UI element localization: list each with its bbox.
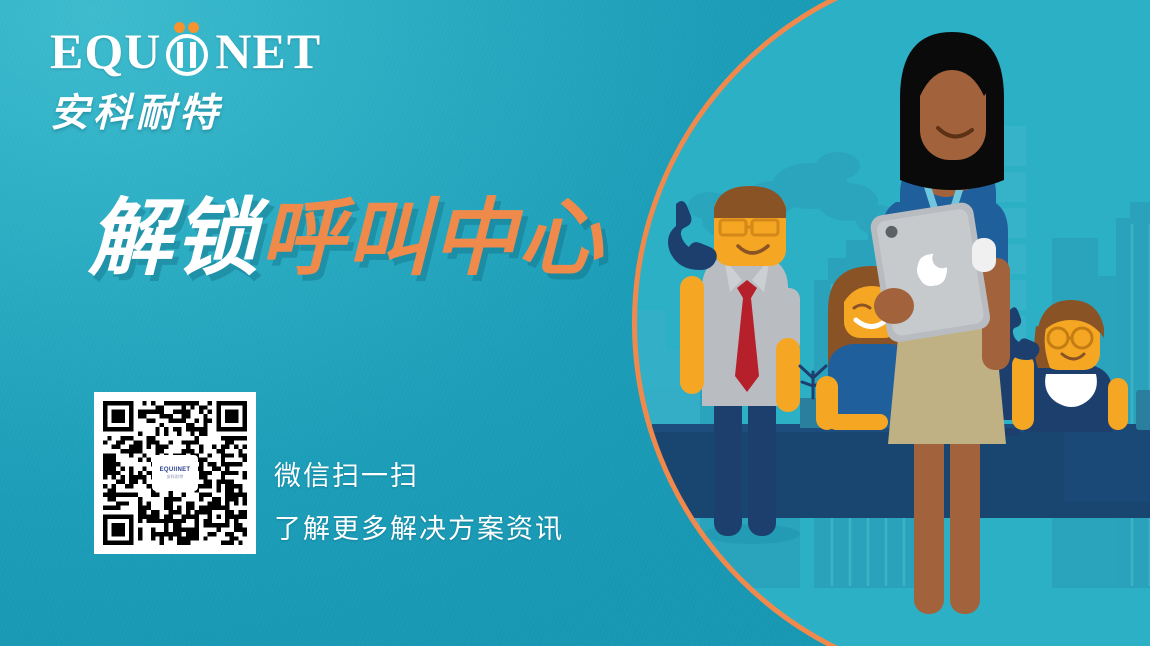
cta-line-1: 微信扫一扫 (274, 450, 564, 503)
headline-orange-part: 呼叫中心 (260, 191, 604, 285)
scan-cta-text: 微信扫一扫 了解更多解决方案资讯 (274, 450, 564, 555)
promo-banner: { "brand": { "name_part1": "EQU", "name_… (0, 0, 1150, 646)
smiley-circle-icon (162, 24, 214, 76)
mug-icon (1136, 390, 1150, 430)
call-center-illustration (632, 0, 1150, 646)
headline-white-part: 解锁 (88, 191, 260, 285)
brand-wordmark: EQUNET (50, 24, 350, 78)
circle-backdrop (632, 0, 1150, 646)
brand-logo: EQUNET 安科耐特 (50, 24, 350, 138)
page-title: 解锁呼叫中心 (88, 196, 604, 280)
brand-wordmark-part2: NET (215, 24, 321, 78)
brand-wordmark-part1: EQU (50, 24, 161, 78)
qr-logo-line1: EQUIINET (160, 467, 191, 473)
brand-name-cn: 安科耐特 (50, 82, 350, 138)
qr-code[interactable]: EQUIINET 安科耐特 (94, 392, 256, 554)
qr-center-logo: EQUIINET 安科耐特 (152, 455, 198, 491)
qr-code-icon: EQUIINET 安科耐特 (103, 401, 247, 545)
cta-line-2: 了解更多解决方案资讯 (274, 503, 564, 556)
qr-logo-line2: 安科耐特 (167, 474, 184, 480)
